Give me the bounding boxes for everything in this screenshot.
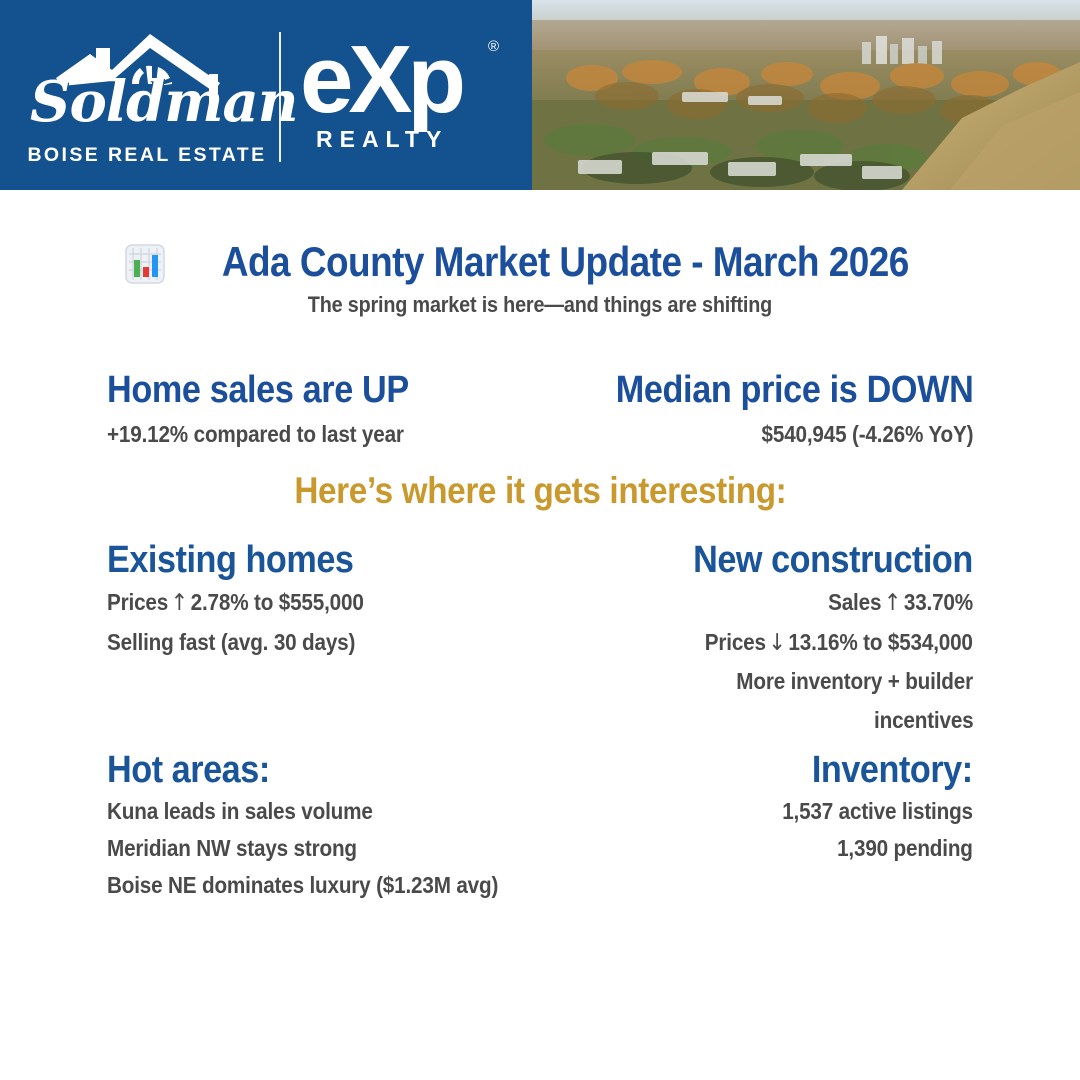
new-prices-label: Prices xyxy=(705,629,766,655)
exp-realty-subtext: REALTY xyxy=(316,126,448,153)
exp-realty-logo: eXp ® REALTY xyxy=(300,30,515,160)
stat-median-price-detail: $540,945 (-4.26% YoY) xyxy=(512,421,973,448)
stat-home-sales-detail: +19.12% compared to last year xyxy=(107,421,507,448)
inventory-heading: Inventory: xyxy=(640,750,973,791)
new-construction-sales-line: Sales↑33.70% xyxy=(560,585,973,621)
segment-new-construction: New construction Sales↑33.70% Prices↓13.… xyxy=(560,540,973,737)
soldman-tagline: BOISE REAL ESTATE xyxy=(22,144,272,167)
stat-home-sales: Home sales are UP +19.12% compared to la… xyxy=(107,370,507,448)
list-item: 1,390 pending xyxy=(640,831,973,865)
boise-aerial-photo xyxy=(532,0,1080,190)
arrow-down-icon: ↓ xyxy=(766,626,789,661)
list-item: Meridian NW stays strong xyxy=(107,831,627,865)
aerial-cityscape-illustration xyxy=(532,0,1080,190)
market-update-graphic: Soldman BOISE REAL ESTATE eXp ® REALTY xyxy=(0,0,1080,1080)
section-heading-interesting: Here’s where it gets interesting: xyxy=(0,470,1080,512)
new-construction-incentives-line: incentives xyxy=(560,703,973,738)
exp-wordmark: eXp xyxy=(300,30,461,131)
header-banner: Soldman BOISE REAL ESTATE eXp ® REALTY xyxy=(0,0,1080,190)
stat-median-price: Median price is DOWN $540,945 (-4.26% Yo… xyxy=(512,370,973,448)
page-title: Ada County Market Update - March 2026 xyxy=(221,238,908,286)
existing-prices-value: 2.78% to $555,000 xyxy=(191,589,364,615)
list-item: Kuna leads in sales volume xyxy=(107,794,627,828)
existing-homes-speed-line: Selling fast (avg. 30 days) xyxy=(107,625,537,660)
registered-trademark-icon: ® xyxy=(488,38,499,55)
new-sales-value: 33.70% xyxy=(904,589,973,615)
page-title-row: Ada County Market Update - March 2026 xyxy=(0,238,1080,289)
hot-areas-heading: Hot areas: xyxy=(107,750,627,791)
new-sales-label: Sales xyxy=(828,589,881,615)
new-construction-inventory-line: More inventory + builder xyxy=(560,664,973,699)
section-hot-areas: Hot areas: Kuna leads in sales volume Me… xyxy=(107,750,627,902)
existing-prices-label: Prices xyxy=(107,589,168,615)
arrow-up-icon: ↑ xyxy=(168,586,191,621)
segment-new-construction-heading: New construction xyxy=(560,540,973,581)
stat-home-sales-heading: Home sales are UP xyxy=(107,370,507,410)
bar-chart-icon xyxy=(125,244,165,289)
segment-existing-homes-heading: Existing homes xyxy=(107,540,537,581)
new-construction-prices-line: Prices↓13.16% to $534,000 xyxy=(560,625,973,661)
stat-median-price-heading: Median price is DOWN xyxy=(512,370,973,410)
soldman-logo: Soldman BOISE REAL ESTATE xyxy=(22,26,272,166)
arrow-up-icon: ↑ xyxy=(881,586,904,621)
list-item: 1,537 active listings xyxy=(640,794,973,828)
existing-homes-prices-line: Prices↑2.78% to $555,000 xyxy=(107,585,537,621)
segment-existing-homes: Existing homes Prices↑2.78% to $555,000 … xyxy=(107,540,537,659)
section-inventory: Inventory: 1,537 active listings 1,390 p… xyxy=(640,750,973,865)
soldman-wordmark: Soldman xyxy=(30,74,270,130)
list-item: Boise NE dominates luxury ($1.23M avg) xyxy=(107,868,627,902)
new-prices-value: 13.16% to $534,000 xyxy=(789,629,973,655)
page-subtitle: The spring market is here—and things are… xyxy=(0,292,1080,318)
brand-divider xyxy=(279,32,281,162)
brand-panel: Soldman BOISE REAL ESTATE eXp ® REALTY xyxy=(0,0,532,190)
